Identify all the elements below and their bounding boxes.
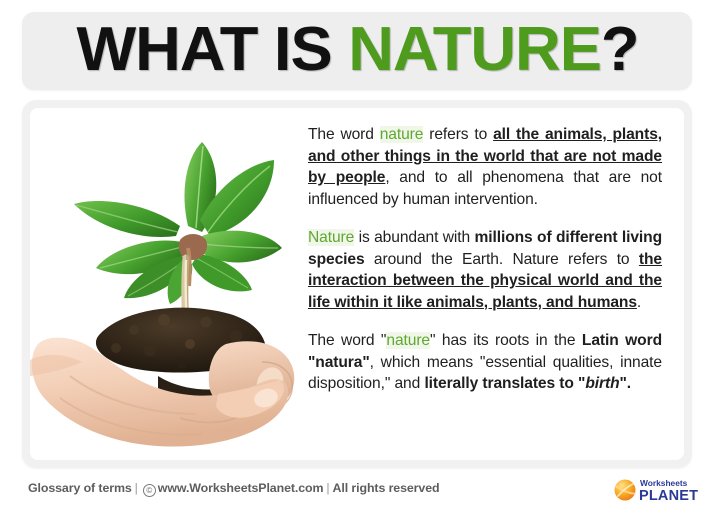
run-emphasis: literally translates to (424, 375, 578, 392)
run-text: " has its roots in the (430, 332, 582, 349)
seedling-in-hands-image (30, 108, 300, 460)
run-text: around the Earth. Nature refers to (365, 251, 639, 268)
logo-word-top: Worksheets (640, 478, 688, 488)
keyword-nature: nature (386, 332, 430, 349)
paragraph-etymology: The word "nature" has its roots in the L… (308, 330, 662, 395)
content-card: The word nature refers to all the animal… (22, 100, 692, 468)
copyright-icon: © (143, 484, 156, 497)
footer-separator: | (132, 481, 141, 495)
footer-rights-label: All rights reserved (333, 481, 440, 495)
header-card: WHAT IS NATURE? (22, 12, 692, 90)
page-title-green: NATURE (348, 15, 601, 84)
run-text: The word " (308, 332, 386, 349)
content-inner: The word nature refers to all the animal… (30, 108, 684, 460)
run-text: refers to (423, 126, 493, 143)
run-text: . (637, 294, 641, 311)
worksheet-page: WHAT IS NATURE? (0, 0, 720, 509)
logo-word-bottom: PLANET (639, 488, 698, 504)
footer: Glossary of terms|©www.WorksheetsPlanet.… (0, 470, 720, 509)
run-text: ". (620, 375, 632, 392)
page-title-black: WHAT IS (76, 15, 348, 84)
keyword-nature: Nature (308, 229, 354, 246)
page-title-question-mark: ? (600, 15, 638, 84)
paragraph-abundance: Nature is abundant with millions of diff… (308, 227, 662, 313)
footer-credit-line: Glossary of terms|©www.WorksheetsPlanet.… (28, 481, 439, 497)
page-title: WHAT IS NATURE? (76, 19, 638, 81)
worksheets-planet-logo[interactable]: Worksheets PLANET (613, 475, 705, 504)
globe-icon (615, 480, 636, 501)
footer-separator: | (323, 481, 332, 495)
run-emphasis-italic: birth (585, 375, 619, 392)
run-text: The word (308, 126, 380, 143)
footer-site-url[interactable]: www.WorksheetsPlanet.com (158, 481, 324, 495)
logo-svg: Worksheets PLANET (613, 475, 705, 504)
paragraph-definition: The word nature refers to all the animal… (308, 124, 662, 210)
run-text: is abundant with (354, 229, 474, 246)
keyword-nature: nature (380, 126, 424, 143)
definition-text-column: The word nature refers to all the animal… (300, 108, 684, 460)
illustration-hands-plant (30, 108, 300, 460)
footer-glossary-label: Glossary of terms (28, 481, 132, 495)
